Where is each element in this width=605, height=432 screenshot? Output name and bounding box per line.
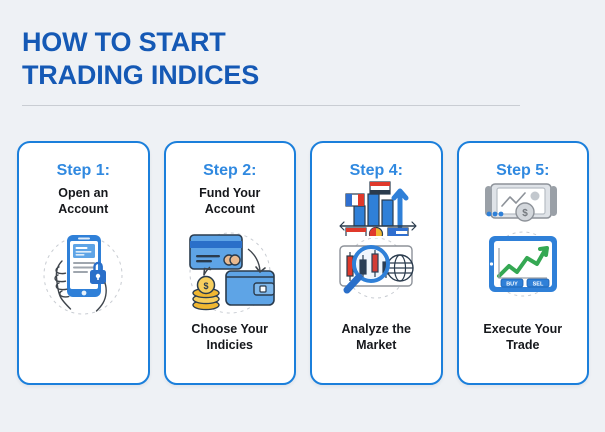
step-label-3: Step 4: (350, 162, 403, 180)
step-card-4[interactable]: Step 5: $ (457, 141, 590, 385)
step-card-2[interactable]: Step 2: Fund Your Account (164, 141, 297, 385)
svg-text:$: $ (203, 281, 208, 291)
step-caption-bottom-4: Execute Your Trade (483, 321, 562, 353)
step-caption-bottom-2: Choose Your Indicies (191, 321, 268, 353)
step-caption-top-1: Open an Account (58, 185, 108, 217)
page-header: HOW TO START TRADING INDICES (22, 26, 582, 92)
step-card-1[interactable]: Step 1: Open an Account (17, 141, 150, 385)
infographic-page: HOW TO START TRADING INDICES Step 1: Ope… (0, 0, 605, 432)
svg-text:$: $ (522, 208, 528, 219)
step-caption-top-2: Fund Your Account (199, 185, 260, 217)
sell-button-glyph: SEL (527, 279, 549, 288)
buy-button-glyph: BUY (501, 279, 523, 288)
step-label-4: Step 5: (496, 162, 549, 180)
flags-bar-chart-icon (324, 180, 428, 236)
step-caption-bottom-3: Analyze the Market (342, 321, 411, 353)
credit-card-wallet-coins-icon: $ (174, 227, 286, 319)
page-title: HOW TO START TRADING INDICES (22, 26, 582, 92)
magnifier-candlestick-globe-icon (324, 238, 428, 300)
hand-holding-phone-with-lock-icon (29, 227, 137, 323)
steps-card-grid: Step 1: Open an Account (17, 141, 589, 385)
step-card-3[interactable]: Step 4: (310, 141, 443, 385)
step-label-1: Step 1: (57, 162, 110, 180)
step-3-artwork (324, 180, 428, 300)
step-4-artwork: $ (471, 180, 575, 298)
sell-button-label: SEL (532, 281, 543, 287)
header-divider (22, 105, 520, 106)
step-label-2: Step 2: (203, 162, 256, 180)
tablet-chart-buy-sell-icon: BUY SEL (471, 230, 575, 298)
tablet-dollar-coin-icon: $ (473, 180, 573, 228)
buy-button-label: BUY (506, 281, 518, 287)
